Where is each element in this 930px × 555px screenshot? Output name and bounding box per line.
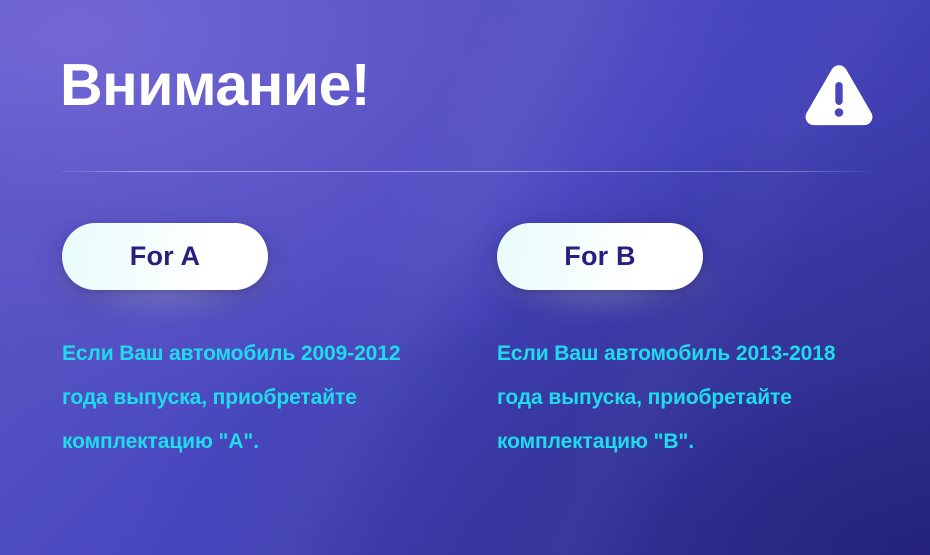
for-a-button-label: For A bbox=[130, 243, 201, 270]
options-container: For A Если Ваш автомобиль 2009-2012 года… bbox=[0, 0, 930, 555]
for-a-description: Если Ваш автомобиль 2009-2012 года выпус… bbox=[62, 332, 452, 464]
for-b-button[interactable]: For B bbox=[497, 223, 703, 290]
for-b-button-label: For B bbox=[564, 243, 636, 270]
for-b-description-line-1: Если Ваш автомобиль 2013-2018 bbox=[497, 332, 887, 376]
for-a-description-line-3: комплектацию "А". bbox=[62, 420, 452, 464]
option-for-a: For A Если Ваш автомобиль 2009-2012 года… bbox=[62, 223, 482, 290]
for-b-description-line-3: комплектацию "B". bbox=[497, 420, 887, 464]
for-a-button-wrap: For A bbox=[62, 223, 268, 290]
for-b-description-line-2: года выпуска, приобретайте bbox=[497, 376, 887, 420]
for-a-description-line-2: года выпуска, приобретайте bbox=[62, 376, 452, 420]
warning-banner: Внимание! For A Если Ваш автомобиль 2009… bbox=[0, 0, 930, 555]
for-b-button-wrap: For B bbox=[497, 223, 703, 290]
for-a-button[interactable]: For A bbox=[62, 223, 268, 290]
option-for-b: For B Если Ваш автомобиль 2013-2018 года… bbox=[497, 223, 917, 290]
for-a-description-line-1: Если Ваш автомобиль 2009-2012 bbox=[62, 332, 452, 376]
for-b-description: Если Ваш автомобиль 2013-2018 года выпус… bbox=[497, 332, 887, 464]
